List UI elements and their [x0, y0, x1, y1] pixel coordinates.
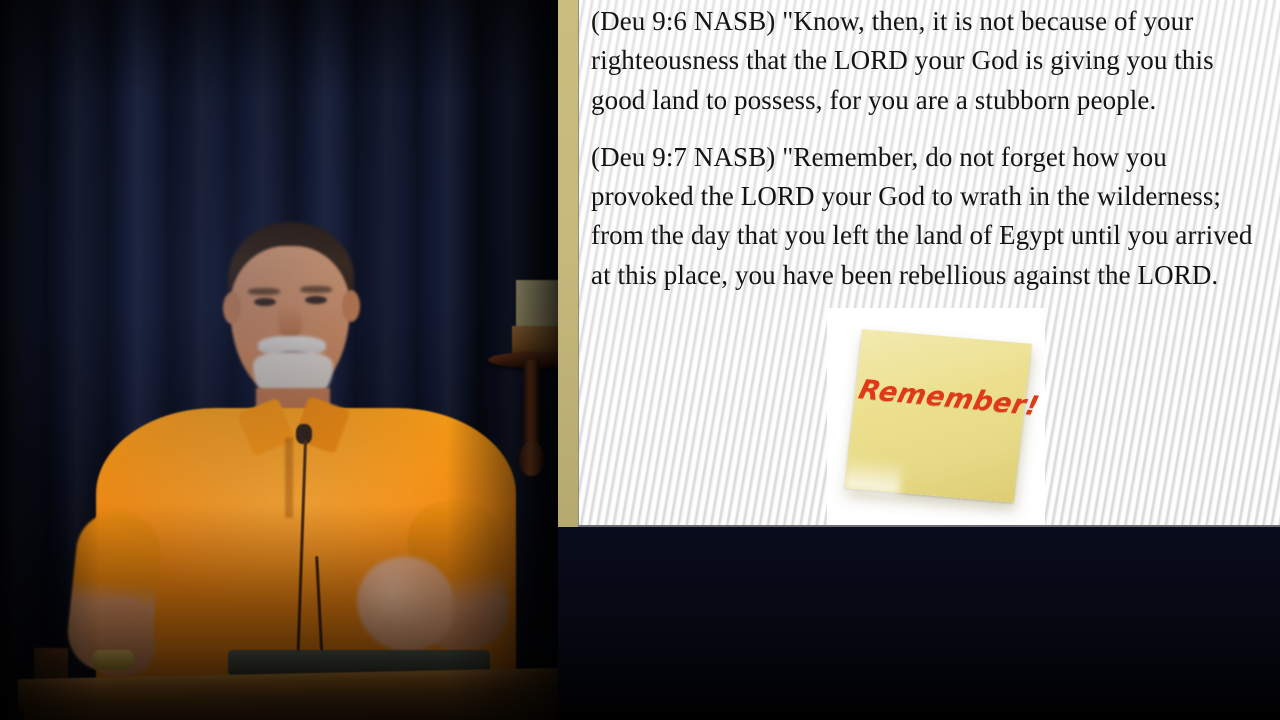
slide-content: (Deu 9:6 NASB) "Know, then, it is not be…	[579, 2, 1280, 295]
speaker-video-pane	[0, 0, 558, 720]
slide-left-edge-strip	[558, 0, 578, 527]
video-vignette	[0, 0, 558, 720]
letterbox-bottom-right	[558, 527, 1280, 720]
video-frame: (Deu 9:6 NASB) "Know, then, it is not be…	[0, 0, 1280, 720]
sticky-note-figure: Remember!	[827, 308, 1045, 527]
verse-deu-9-6: (Deu 9:6 NASB) "Know, then, it is not be…	[591, 2, 1260, 120]
sticky-note-curl	[843, 455, 902, 495]
projected-slide: (Deu 9:6 NASB) "Know, then, it is not be…	[578, 0, 1280, 527]
verse-deu-9-7: (Deu 9:7 NASB) "Remember, do not forget …	[591, 138, 1260, 295]
